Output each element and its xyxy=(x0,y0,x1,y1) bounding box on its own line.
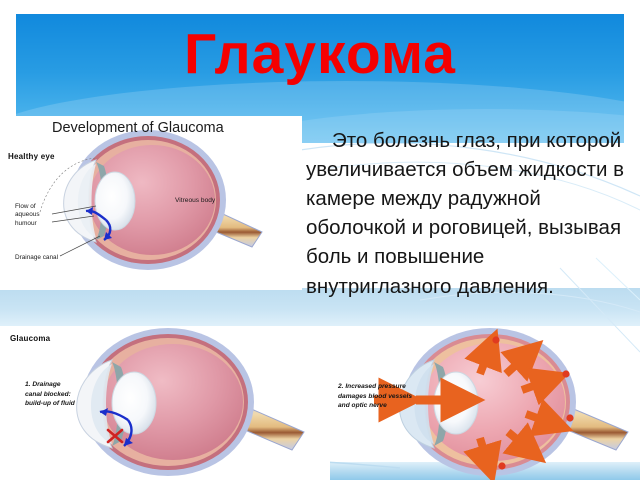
label-drainage-canal: Drainage canal xyxy=(15,254,85,262)
label-glaucoma: Glaucoma xyxy=(10,334,50,343)
figure-increased-pressure: 2. Increased pressuredamages blood vesse… xyxy=(330,326,640,480)
label-healthy-eye: Healthy eye xyxy=(8,152,55,161)
figure-healthy-eye: Development of Glaucoma Healthy eye xyxy=(0,116,302,290)
caption-drainage-blocked: 1. Drainagecanal blocked:build-up of flu… xyxy=(25,380,111,409)
slide-canvas: Глаукома Это болезнь глаз, при которой у… xyxy=(0,0,640,480)
figure-title: Development of Glaucoma xyxy=(52,120,224,136)
page-title: Глаукома xyxy=(16,26,624,83)
label-flow-aqueous-humour: Flow ofaqueoushumour xyxy=(15,203,63,228)
caption-increased-pressure: 2. Increased pressuredamages blood vesse… xyxy=(338,382,442,411)
figure-glaucoma-blocked: Glaucoma xyxy=(0,326,330,480)
label-vitreous-body: Vitreous body xyxy=(175,197,215,204)
body-paragraph: Это болезнь глаз, при которой увеличивае… xyxy=(306,126,628,301)
